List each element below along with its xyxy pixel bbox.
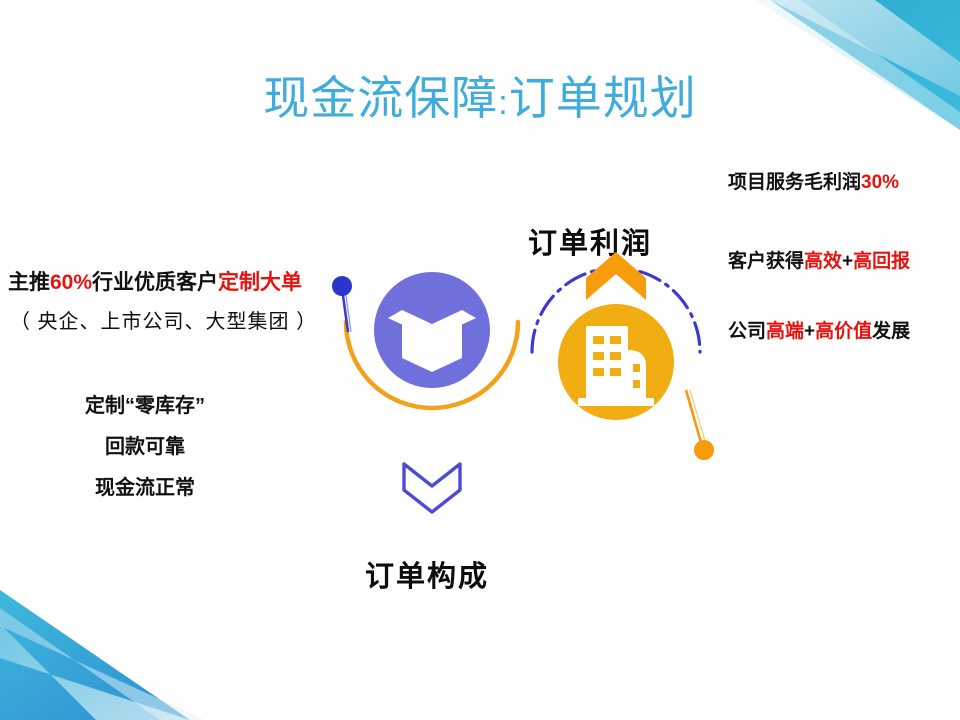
- right-line-3: 公司高端+高价值发展: [728, 316, 910, 343]
- blue-pin-dot: [332, 276, 352, 332]
- right-line-1: 项目服务毛利润30%: [728, 167, 899, 194]
- title-colon: :: [498, 84, 508, 122]
- right-line-1-highlight1: 30%: [861, 172, 899, 193]
- right-line-1-part1: 项目服务毛利润: [728, 172, 861, 193]
- chevron-down-arrow: [404, 464, 460, 512]
- page-title: 现金流保障:订单规划: [0, 62, 960, 128]
- order-flow-diagram: [320, 240, 740, 540]
- left-bullet-3: 现金流正常: [0, 471, 290, 500]
- right-line-3-highlight2: 高价值: [815, 321, 872, 342]
- deco-band-light: [0, 608, 205, 720]
- right-line-2-part2: +: [842, 251, 853, 272]
- diagram-label-order-composition: 订单构成: [365, 553, 489, 595]
- slide-canvas: 现金流保障:订单规划 主推60%行业优质客户定制大单 （ 央企、上市公司、大型集…: [0, 0, 960, 720]
- orange-pin-dot: [686, 390, 714, 460]
- left-headline-part2: 行业优质客户: [92, 271, 218, 294]
- deco-band-mid: [0, 624, 190, 720]
- right-line-2: 客户获得高效+高回报: [728, 246, 910, 273]
- chevron-up-arrow: [586, 252, 646, 300]
- right-line-3-part2: +: [804, 321, 815, 342]
- right-line-2-highlight1: 高效: [804, 251, 842, 272]
- left-headline-highlight2: 定制大单: [218, 271, 302, 294]
- right-line-3-part3: 发展: [872, 321, 910, 342]
- left-subtitle: （ 央企、上市公司、大型集团 ）: [10, 305, 317, 334]
- title-main: 现金流保障: [263, 72, 498, 124]
- right-line-3-highlight1: 高端: [766, 321, 804, 342]
- title-sub: 订单规划: [509, 72, 697, 124]
- left-bullet-2: 回款可靠: [0, 430, 290, 459]
- order-profit-node: [558, 304, 674, 420]
- left-headline-part1: 主推: [8, 271, 50, 294]
- order-composition-node: [374, 272, 490, 388]
- bottom-left-decoration: [0, 590, 300, 720]
- left-headline: 主推60%行业优质客户定制大单: [8, 266, 302, 296]
- left-headline-highlight1: 60%: [50, 271, 92, 294]
- deco-band-dark: [0, 590, 190, 720]
- right-line-2-highlight2: 高回报: [853, 251, 910, 272]
- left-bullet-1: 定制“零库存”: [0, 389, 290, 418]
